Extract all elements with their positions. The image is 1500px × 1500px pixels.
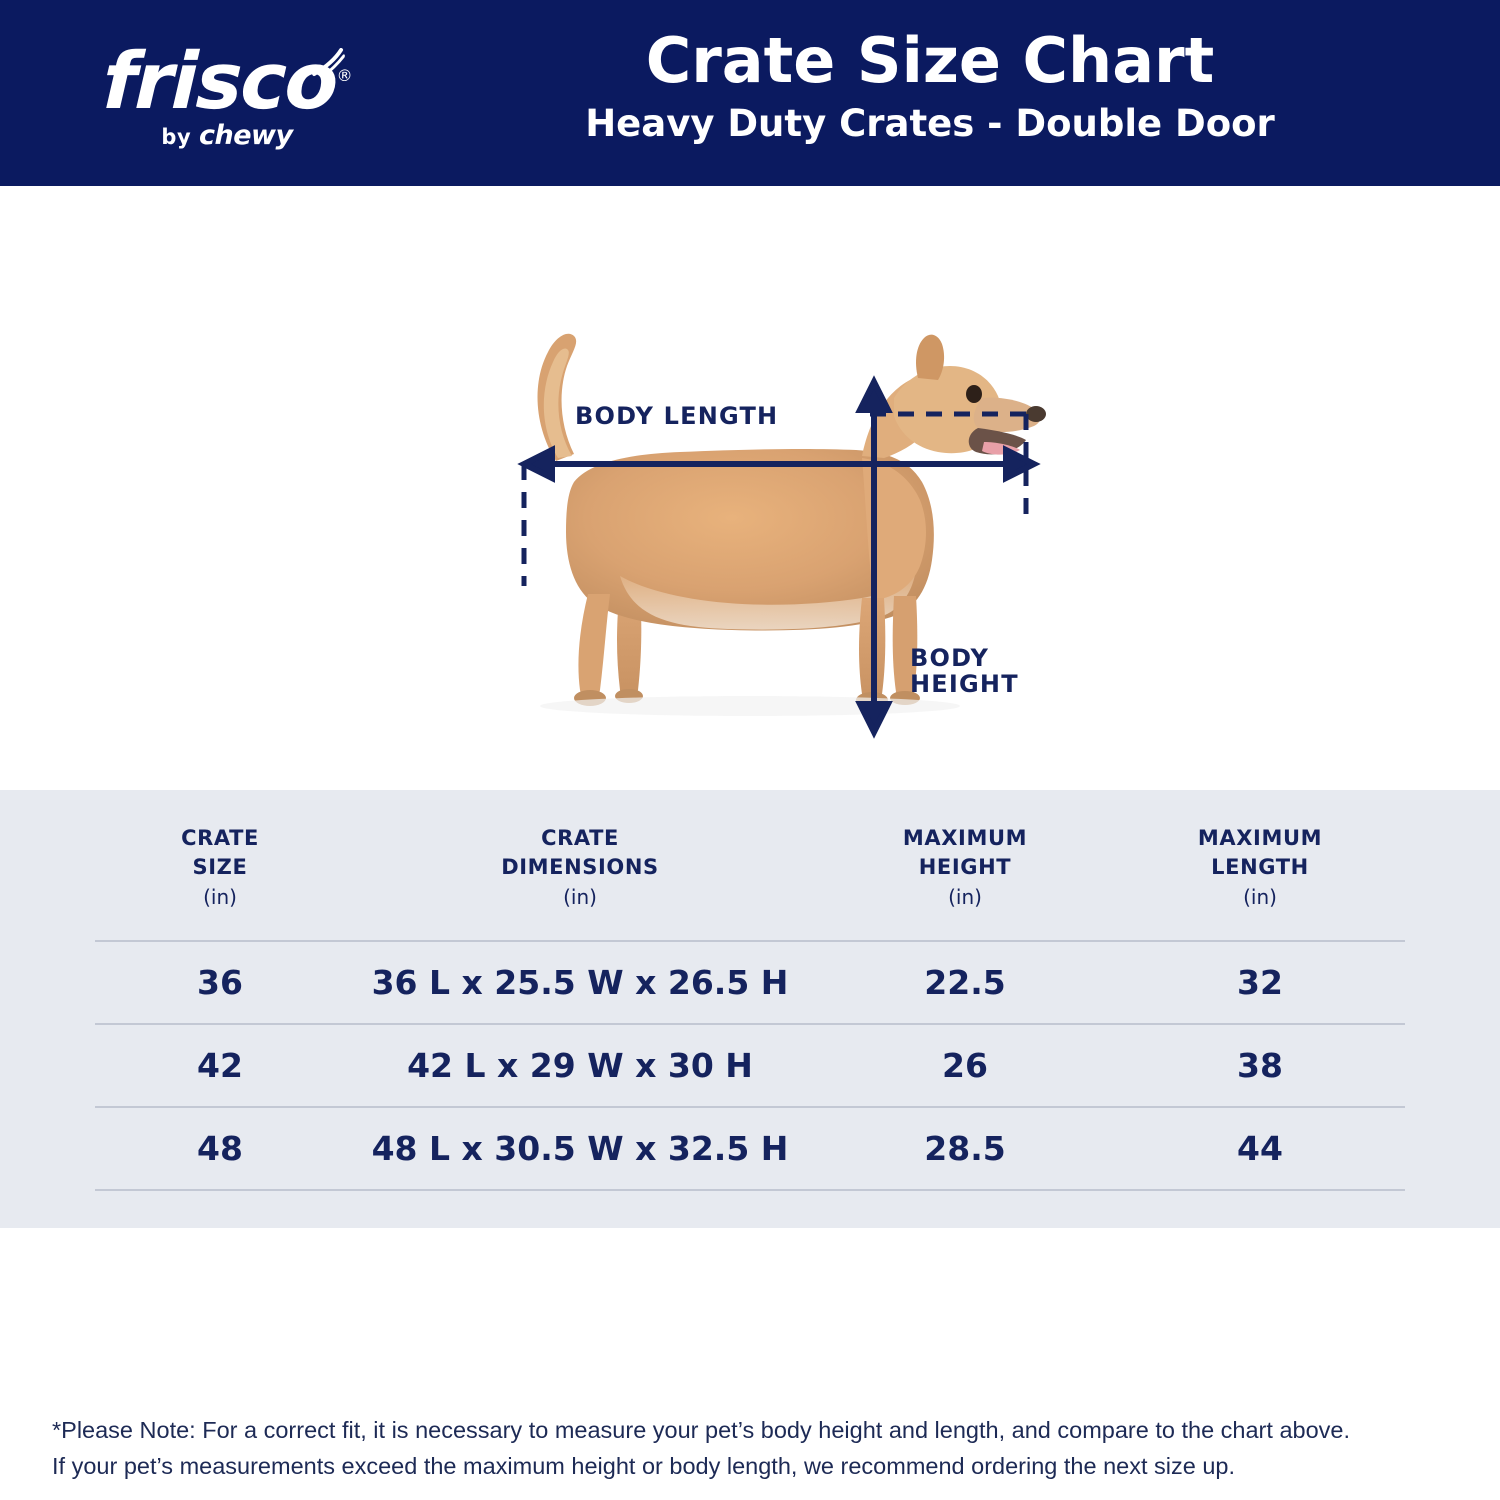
header-line-2: LENGTH	[1211, 855, 1309, 879]
cell-maximum-height: 26	[815, 1024, 1115, 1107]
header-unit: (in)	[1115, 882, 1405, 912]
header-unit: (in)	[815, 882, 1115, 912]
header-line-2: DIMENSIONS	[501, 855, 659, 879]
cell-crate-dimensions: 36 L x 25.5 W x 26.5 H	[345, 941, 815, 1024]
cell-crate-size: 42	[95, 1024, 345, 1107]
header-titles: Crate Size Chart Heavy Duty Crates - Dou…	[400, 24, 1460, 150]
table-head: CRATE SIZE (in) CRATE DIMENSIONS (in) MA…	[95, 790, 1405, 941]
size-table-band: CRATE SIZE (in) CRATE DIMENSIONS (in) MA…	[0, 790, 1500, 1228]
table-row: 36 36 L x 25.5 W x 26.5 H 22.5 32	[95, 941, 1405, 1024]
column-header-maximum-height: MAXIMUM HEIGHT (in)	[815, 790, 1115, 941]
cell-crate-dimensions: 42 L x 29 W x 30 H	[345, 1024, 815, 1107]
table-row: 48 48 L x 30.5 W x 32.5 H 28.5 44	[95, 1107, 1405, 1190]
table-row: 42 42 L x 29 W x 30 H 26 38	[95, 1024, 1405, 1107]
cell-maximum-length: 44	[1115, 1107, 1405, 1190]
cell-crate-size: 36	[95, 941, 345, 1024]
cell-maximum-height: 22.5	[815, 941, 1115, 1024]
column-header-crate-dimensions: CRATE DIMENSIONS (in)	[345, 790, 815, 941]
header-band: frisco® by chewy Crate Size Chart Heavy …	[0, 0, 1500, 186]
footer-note-line-1: *Please Note: For a correct fit, it is n…	[52, 1412, 1472, 1448]
header-unit: (in)	[95, 882, 345, 912]
frisco-wordmark: frisco®	[102, 34, 353, 124]
cell-maximum-length: 32	[1115, 941, 1405, 1024]
frisco-wordmark-text: frisco	[102, 37, 339, 127]
crate-size-table: CRATE SIZE (in) CRATE DIMENSIONS (in) MA…	[95, 790, 1405, 1191]
body-length-label: BODY LENGTH	[575, 404, 778, 430]
cell-maximum-length: 38	[1115, 1024, 1405, 1107]
column-header-crate-size: CRATE SIZE (in)	[95, 790, 345, 941]
table-header-row: CRATE SIZE (in) CRATE DIMENSIONS (in) MA…	[95, 790, 1405, 941]
header-line-1: MAXIMUM	[1198, 826, 1322, 850]
header-line-1: CRATE	[181, 826, 259, 850]
measurement-diagram-area: BODY LENGTH BODY HEIGHT	[0, 186, 1500, 790]
header-line-1: MAXIMUM	[903, 826, 1027, 850]
footer-note-line-2: If your pet’s measurements exceed the ma…	[52, 1448, 1472, 1484]
header-line-2: HEIGHT	[919, 855, 1011, 879]
header-unit: (in)	[345, 882, 815, 912]
byline-prefix: by	[161, 125, 191, 149]
swoosh-icon	[311, 48, 346, 78]
page-subtitle: Heavy Duty Crates - Double Door	[400, 98, 1460, 150]
body-height-label: BODY HEIGHT	[910, 646, 1050, 698]
cell-crate-dimensions: 48 L x 30.5 W x 32.5 H	[345, 1107, 815, 1190]
header-line-2: SIZE	[193, 855, 248, 879]
header-line-1: CRATE	[541, 826, 619, 850]
frisco-by-chewy-logo: frisco® by chewy	[72, 34, 382, 160]
cell-crate-size: 48	[95, 1107, 345, 1190]
body-height-label-text: BODY HEIGHT	[910, 644, 1019, 698]
page-title: Crate Size Chart	[400, 24, 1460, 98]
column-header-maximum-length: MAXIMUM LENGTH (in)	[1115, 790, 1405, 941]
footer-note: *Please Note: For a correct fit, it is n…	[52, 1412, 1472, 1484]
diagram-stage: BODY LENGTH BODY HEIGHT	[470, 286, 1050, 746]
cell-maximum-height: 28.5	[815, 1107, 1115, 1190]
table-body: 36 36 L x 25.5 W x 26.5 H 22.5 32 42 42 …	[95, 941, 1405, 1190]
